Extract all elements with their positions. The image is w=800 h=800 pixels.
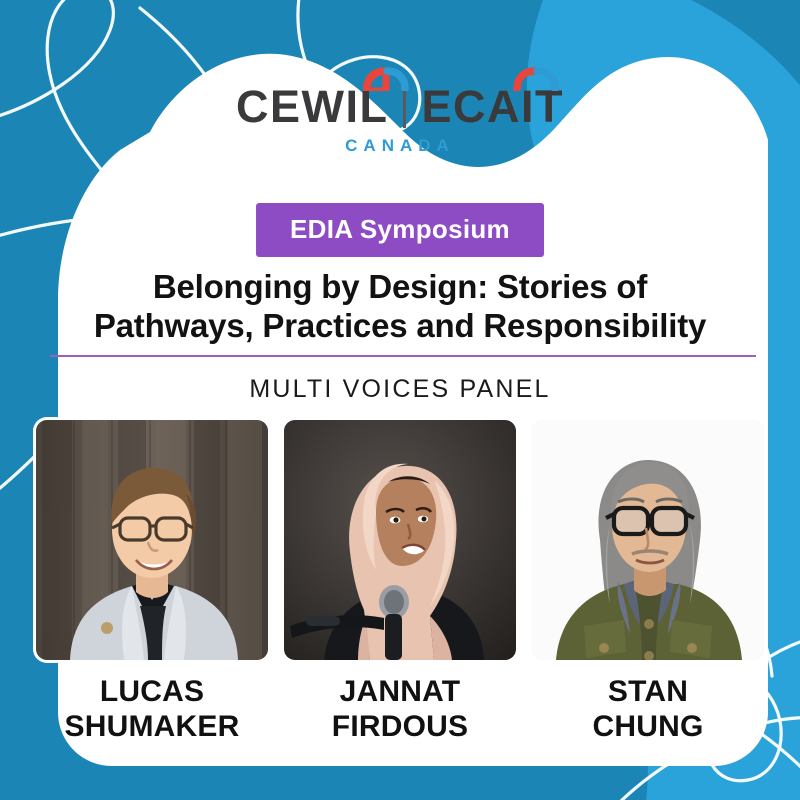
speaker-name: STAN CHUNG xyxy=(532,674,764,744)
badge-label: EDIA Symposium xyxy=(290,214,510,244)
logo-wordmark-row: CEWIL ECAIT xyxy=(236,84,564,129)
logo-word-cewil-text: CEWIL xyxy=(236,81,388,132)
title-divider xyxy=(50,355,756,357)
speaker-photo-stan-chung xyxy=(532,420,764,660)
panel-subtitle: MULTI VOICES PANEL xyxy=(0,375,800,404)
logo-country-label: CANADA xyxy=(0,136,800,156)
avatar xyxy=(284,420,516,660)
card-content: CEWIL ECAIT CANADA xyxy=(0,0,800,800)
speaker-last-name: FIRDOUS xyxy=(332,710,468,743)
speaker-list: LUCAS SHUMAKER xyxy=(36,420,764,744)
speaker-first-name: JANNAT xyxy=(340,675,461,708)
speaker-first-name: LUCAS xyxy=(100,675,204,708)
brand-logo: CEWIL ECAIT CANADA xyxy=(0,84,800,156)
speaker-last-name: CHUNG xyxy=(593,710,704,743)
title-line-1: Belonging by Design: Stories of xyxy=(153,268,647,305)
speaker-name: JANNAT FIRDOUS xyxy=(284,674,516,744)
speaker-photo-jannat-firdous xyxy=(284,420,516,660)
logo-word-ecait: ECAIT xyxy=(421,84,564,129)
avatar xyxy=(532,420,764,660)
speaker-card-stan-chung: STAN CHUNG xyxy=(532,420,764,744)
speaker-last-name: SHUMAKER xyxy=(65,710,240,743)
title-line-2: Pathways, Practices and Responsibility xyxy=(94,307,706,344)
avatar xyxy=(36,420,268,660)
speaker-card-lucas-shumaker: LUCAS SHUMAKER xyxy=(36,420,268,744)
speaker-name: LUCAS SHUMAKER xyxy=(36,674,268,744)
speaker-card-jannat-firdous: JANNAT FIRDOUS xyxy=(284,420,516,744)
poster-canvas: CEWIL ECAIT CANADA xyxy=(0,0,800,800)
logo-word-ecait-text: ECAIT xyxy=(421,81,564,132)
edia-symposium-badge: EDIA Symposium xyxy=(256,203,544,257)
speaker-photo-lucas-shumaker xyxy=(36,420,268,660)
logo-separator xyxy=(403,86,406,128)
logo-word-cewil: CEWIL xyxy=(236,84,388,129)
speaker-first-name: STAN xyxy=(608,675,688,708)
page-title: Belonging by Design: Stories of Pathways… xyxy=(40,268,760,346)
